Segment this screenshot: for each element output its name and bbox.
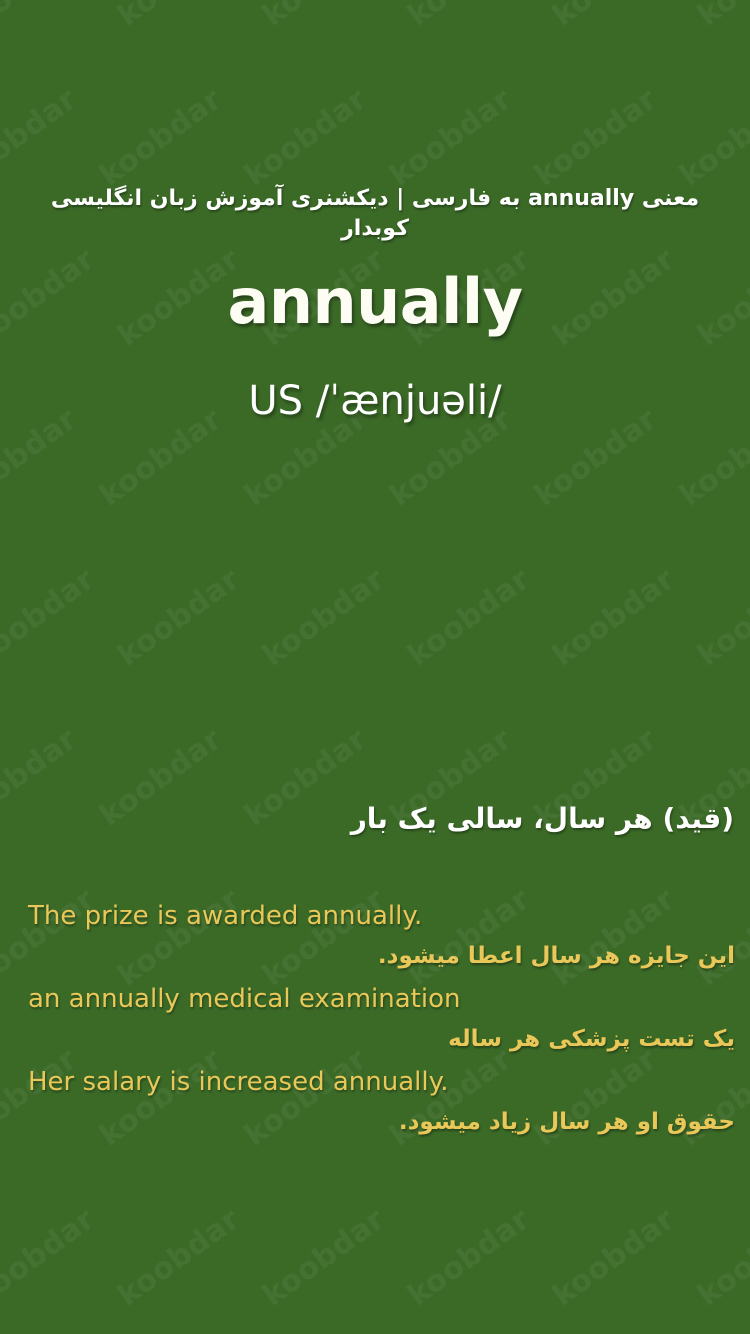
dictionary-card-page: { "theme": { "background_color": "#3b6a2… xyxy=(0,0,750,1334)
example-translation-fa: این جایزه هر سال اعطا میشود. xyxy=(0,945,750,986)
example-sentence-en: The prize is awarded annually. xyxy=(0,903,750,945)
example-sentence-en: an annually medical examination xyxy=(0,986,750,1028)
example-group: an annually medical examinationیک تست پز… xyxy=(0,986,750,1069)
example-translation-fa: یک تست پزشکی هر ساله xyxy=(0,1028,750,1069)
example-sentence-en: Her salary is increased annually. xyxy=(0,1069,750,1111)
example-translation-fa: حقوق او هر سال زیاد میشود. xyxy=(0,1111,750,1152)
card-content: معنی annually به فارسی | دیکشنری آموزش ز… xyxy=(0,0,750,1334)
headword: annually xyxy=(0,268,750,336)
examples-list: The prize is awarded annually.این جایزه … xyxy=(0,903,750,1152)
definition: (قید) هر سال، سالی یک بار xyxy=(0,800,750,838)
pronunciation: US /ˈænjuəli/ xyxy=(0,377,750,425)
example-group: Her salary is increased annually.حقوق او… xyxy=(0,1069,750,1152)
example-group: The prize is awarded annually.این جایزه … xyxy=(0,903,750,986)
page-title: معنی annually به فارسی | دیکشنری آموزش ز… xyxy=(0,184,750,243)
